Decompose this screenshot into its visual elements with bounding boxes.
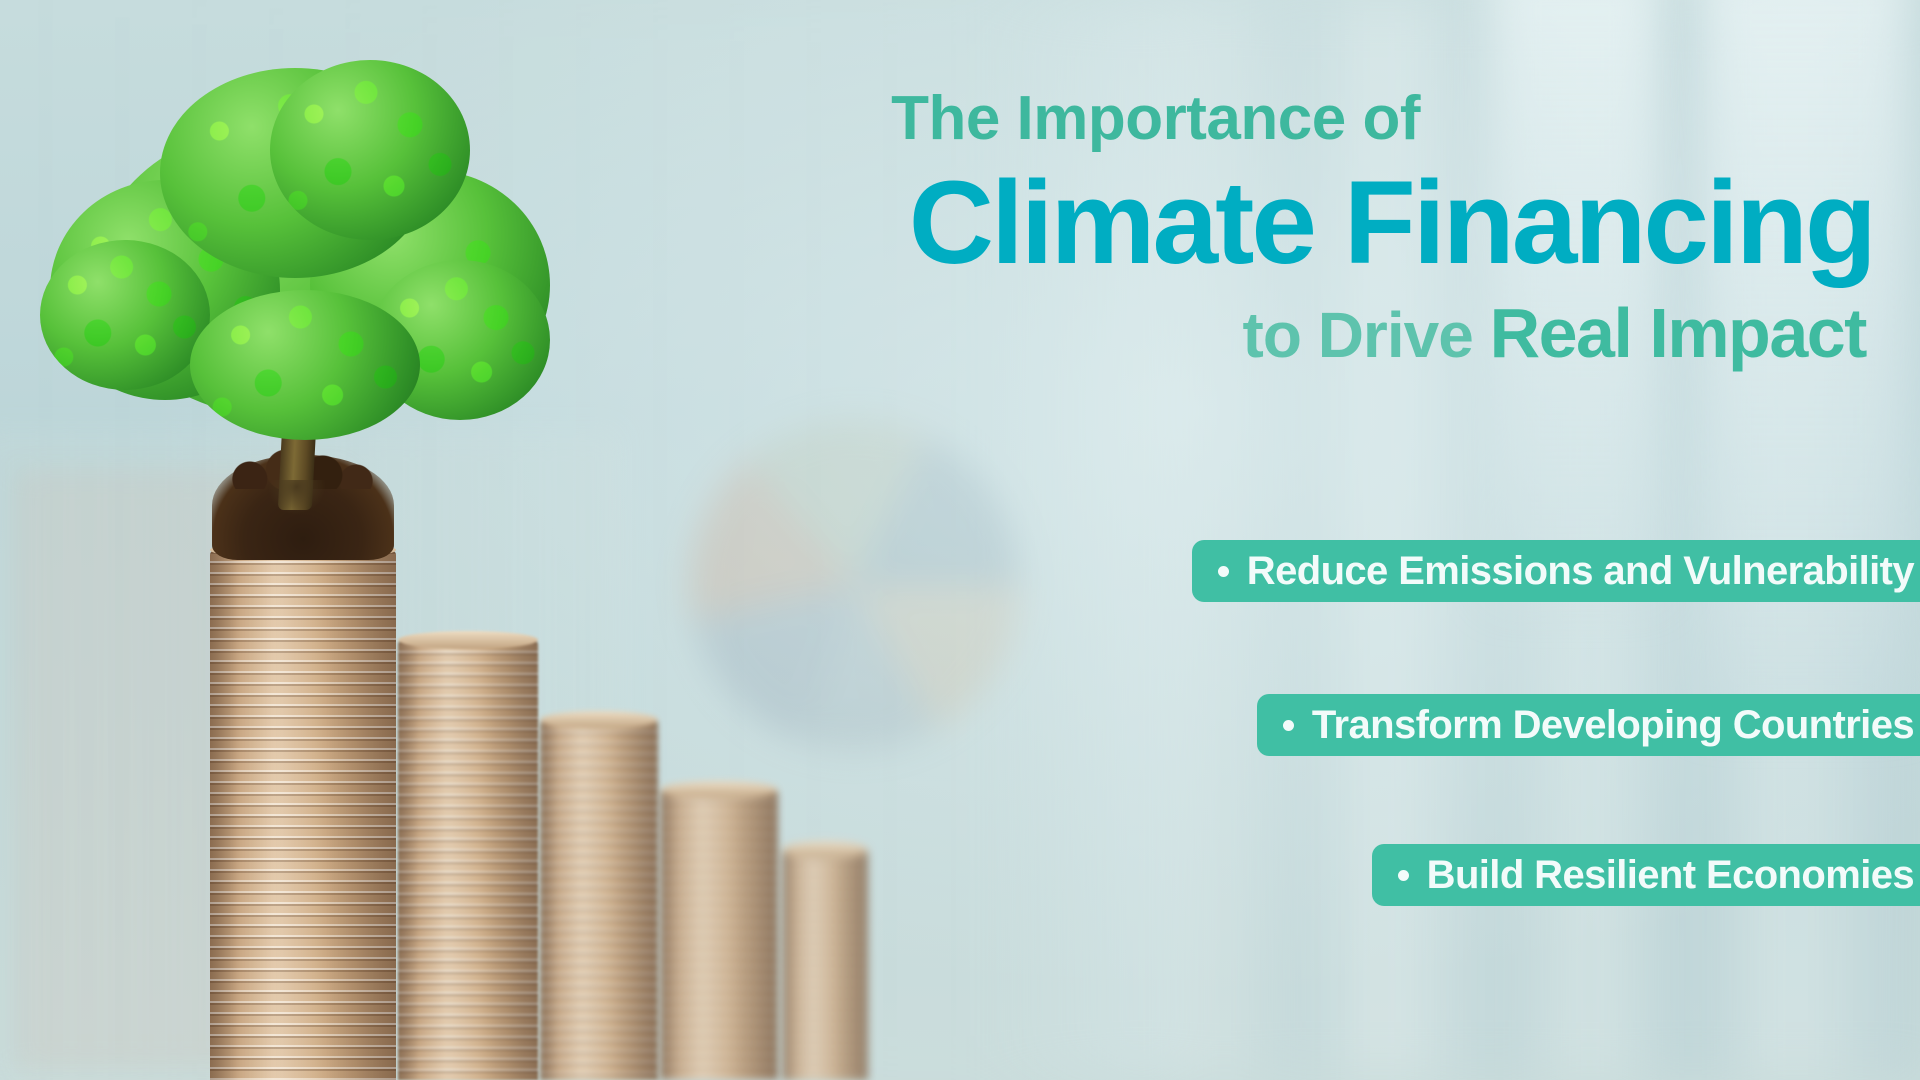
title-line-2: Climate Financing xyxy=(560,164,1920,282)
bullet-label-1: Reduce Emissions and Vulnerability xyxy=(1247,549,1914,594)
bullet-item-3: Build Resilient Economies xyxy=(1372,844,1920,906)
bullet-list: Reduce Emissions and Vulnerability Trans… xyxy=(0,540,1920,906)
bullet-item-1: Reduce Emissions and Vulnerability xyxy=(1192,540,1920,602)
bullet-dot-icon xyxy=(1218,566,1229,577)
title-line-1: The Importance of xyxy=(560,88,1920,150)
title-line-3-light: to Drive xyxy=(1243,299,1490,371)
poster-title: The Importance of Climate Financing to D… xyxy=(560,88,1920,368)
poster-content: The Importance of Climate Financing to D… xyxy=(0,0,1920,1080)
bullet-label-2: Transform Developing Countries xyxy=(1312,703,1914,748)
title-line-3: to Drive Real Impact xyxy=(560,298,1920,368)
bullet-dot-icon xyxy=(1398,870,1409,881)
title-line-3-heavy: Real Impact xyxy=(1490,294,1866,372)
bullet-dot-icon xyxy=(1283,720,1294,731)
bullet-item-2: Transform Developing Countries xyxy=(1257,694,1920,756)
bullet-label-3: Build Resilient Economies xyxy=(1427,853,1914,898)
